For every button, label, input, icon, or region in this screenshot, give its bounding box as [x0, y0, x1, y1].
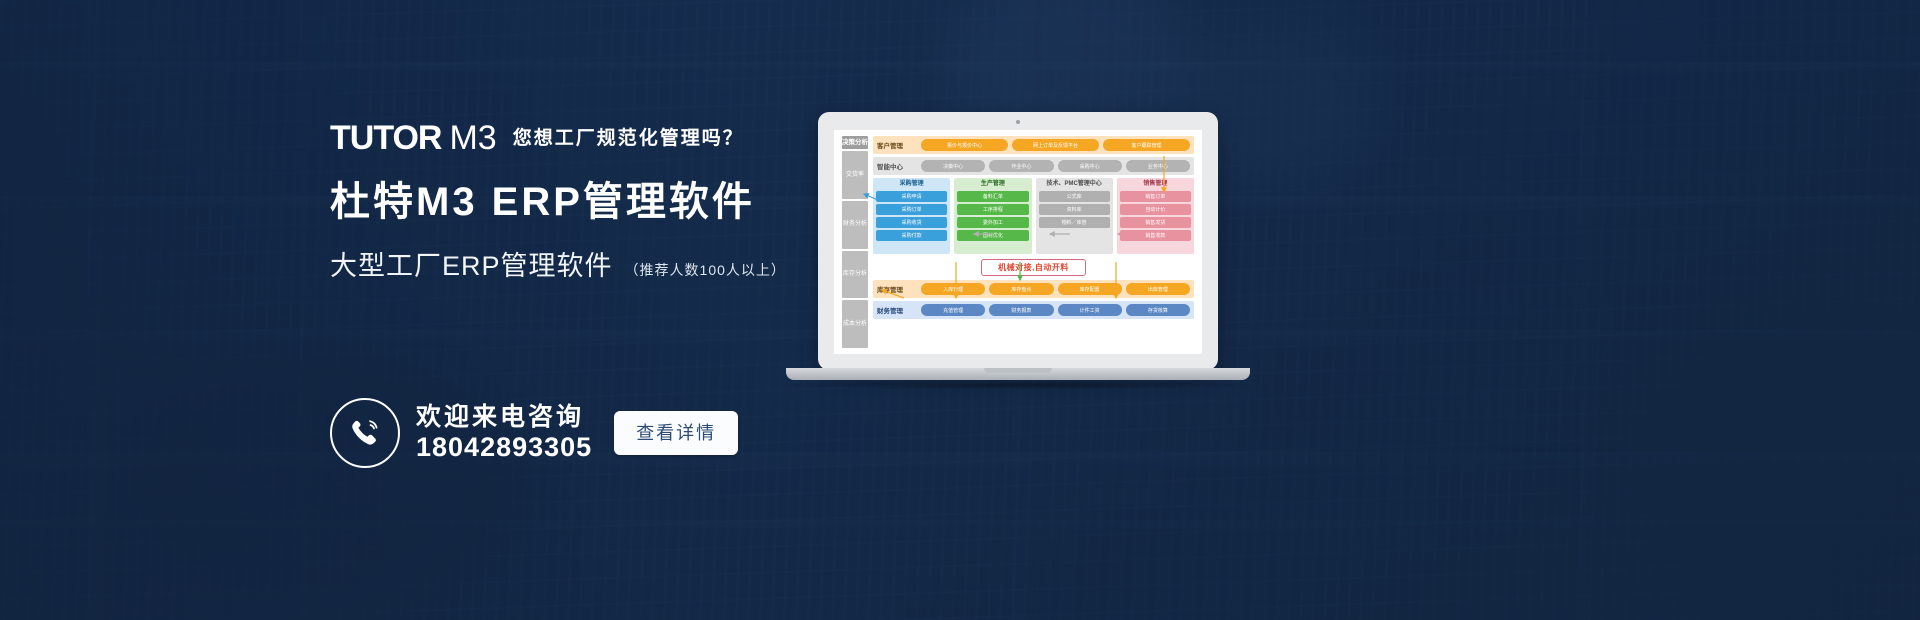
- erp-column-title: 生产管理: [957, 181, 1028, 188]
- erp-sidebar-item-1: 财务分析: [842, 201, 868, 249]
- erp-column-item: 资料库: [1039, 204, 1110, 215]
- subtitle-note: （推荐人数100人以上）: [625, 260, 786, 280]
- erp-chip: 业务中心: [1126, 160, 1190, 172]
- erp-column-item: 采购申请: [876, 191, 947, 202]
- erp-column-purchase: 采购管理 采购申请 采购订单 采购收货 采购付款: [873, 178, 950, 254]
- erp-band-customer: 客户管理 报价与报价中心 网上订单及反馈平台 客户跟踪管理: [873, 136, 1194, 154]
- contact-text: 欢迎来电咨询 18042893305: [416, 403, 592, 463]
- contact-phone-number: 18042893305: [416, 432, 592, 463]
- hero-banner: TUTOR M3 您想工厂规范化管理吗？ 杜特M3 ERP管理软件 大型工厂ER…: [0, 0, 1920, 620]
- erp-chip: 入库管理: [921, 283, 985, 295]
- erp-band-smart-label: 智能中心: [877, 161, 917, 171]
- contact-title: 欢迎来电咨询: [416, 403, 592, 432]
- erp-column-item: 销售订单: [1120, 191, 1191, 202]
- erp-column-title: 采购管理: [876, 181, 947, 188]
- erp-chip: 库存配置: [1058, 283, 1122, 295]
- laptop-screen: 决策分析 交货率 财务分析 库存分析 成本分析 客户管理 报价与报价: [834, 130, 1202, 354]
- laptop-mockup: 决策分析 交货率 财务分析 库存分析 成本分析 客户管理 报价与报价: [818, 112, 1218, 390]
- erp-sidebar-item-3: 成本分析: [842, 300, 868, 348]
- erp-sidebar-item-2: 库存分析: [842, 251, 868, 299]
- erp-chip: 出库管理: [1126, 283, 1190, 295]
- erp-chip: 作业中心: [989, 160, 1053, 172]
- erp-column-item: 自动计价: [1120, 204, 1191, 215]
- erp-chip: 充值管理: [921, 304, 985, 316]
- erp-column-sales: 销售管理 销售订单 自动计价 销售发货 销售收款: [1117, 178, 1194, 254]
- erp-chip: 库存盘点: [989, 283, 1053, 295]
- erp-chip: 网上订单及反馈平台: [1012, 139, 1099, 151]
- phone-call-icon[interactable]: [330, 398, 400, 468]
- erp-chip: 财务报表: [989, 304, 1053, 316]
- erp-chip: 计件工资: [1058, 304, 1122, 316]
- erp-column-item: 采购收货: [876, 217, 947, 228]
- erp-column-production: 生产管理 备料汇单 工序排程 委外加工 国材优化: [954, 178, 1031, 254]
- erp-column-item: 采购订单: [876, 204, 947, 215]
- view-details-button[interactable]: 查看详情: [614, 411, 738, 455]
- laptop-shadow: [774, 380, 1264, 390]
- erp-column-item: 销售收款: [1120, 230, 1191, 241]
- erp-highlight-banner: 机械对接,自动开料: [981, 259, 1086, 276]
- erp-column-item: 物料／库管: [1039, 217, 1110, 228]
- erp-chip: 决策中心: [921, 160, 985, 172]
- erp-column-item: 销售发货: [1120, 217, 1191, 228]
- erp-chip: 存货核算: [1126, 304, 1190, 316]
- erp-module-columns: 采购管理 采购申请 采购订单 采购收货 采购付款 生产管理 备料汇单: [873, 178, 1194, 254]
- erp-column-item: 备料汇单: [957, 191, 1028, 202]
- laptop-base-notch: [984, 368, 1052, 373]
- erp-highlight-row: 机械对接,自动开料: [873, 257, 1194, 277]
- erp-sidebar-item-0: 交货率: [842, 151, 868, 199]
- erp-column-item: 工序排程: [957, 204, 1028, 215]
- laptop-camera-icon: [1016, 120, 1020, 124]
- erp-column-item: 采购付款: [876, 230, 947, 241]
- erp-column-item: 委外加工: [957, 217, 1028, 228]
- erp-column-technology-pmc: 技术、PMC管理中心 公式库 资料库 物料／库管: [1036, 178, 1113, 254]
- erp-band-customer-label: 客户管理: [877, 140, 917, 150]
- erp-chip: 客户跟踪管理: [1103, 139, 1190, 151]
- subtitle-main: 大型工厂ERP管理软件: [330, 244, 613, 283]
- erp-column-title: 技术、PMC管理中心: [1039, 181, 1110, 188]
- erp-band-finance: 财务管理 充值管理 财务报表 计件工资 存货核算: [873, 301, 1194, 319]
- brand-logo-tutor: TUTOR: [330, 121, 441, 155]
- erp-main-area: 客户管理 报价与报价中心 网上订单及反馈平台 客户跟踪管理 智能中心 决策中心: [873, 136, 1194, 348]
- erp-column-item: 公式库: [1039, 191, 1110, 202]
- erp-chip: 采购中心: [1058, 160, 1122, 172]
- erp-band-smart-center: 智能中心 决策中心 作业中心 采购中心 业务中心: [873, 157, 1194, 175]
- erp-band-inventory: 库存管理 入库管理 库存盘点 库存配置 出库管理: [873, 280, 1194, 298]
- brand-logo-m3: M3: [449, 121, 496, 155]
- brand-tagline: 您想工厂规范化管理吗？: [513, 129, 744, 148]
- erp-sidebar: 决策分析 交货率 财务分析 库存分析 成本分析: [842, 136, 868, 348]
- contact-cta-row: 欢迎来电咨询 18042893305 查看详情: [330, 398, 738, 468]
- erp-chip: 报价与报价中心: [921, 139, 1008, 151]
- erp-sidebar-header: 决策分析: [842, 136, 868, 149]
- erp-diagram: 决策分析 交货率 财务分析 库存分析 成本分析 客户管理 报价与报价: [834, 130, 1202, 354]
- erp-column-item: 国材优化: [957, 230, 1028, 241]
- erp-band-inventory-label: 库存管理: [877, 284, 917, 294]
- laptop-lid: 决策分析 交货率 财务分析 库存分析 成本分析 客户管理 报价与报价: [818, 112, 1218, 370]
- erp-column-title: 销售管理: [1120, 181, 1191, 188]
- erp-band-finance-label: 财务管理: [877, 305, 917, 315]
